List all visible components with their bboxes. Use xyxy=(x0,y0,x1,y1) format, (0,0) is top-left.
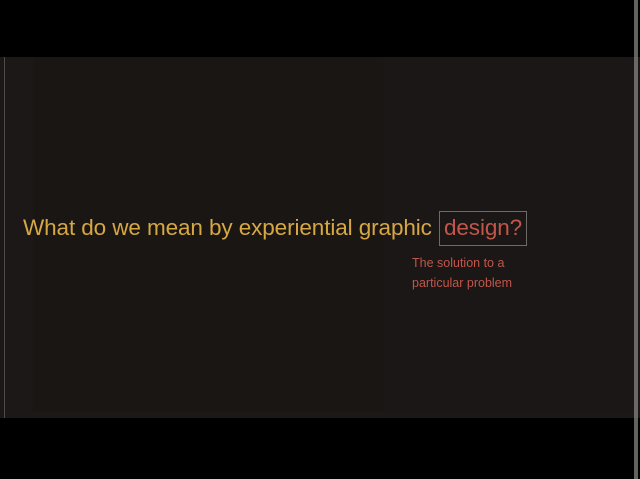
letterbox-bar-bottom xyxy=(0,418,640,479)
slide-annotation: The solution to a particular problem xyxy=(412,254,612,293)
headline-lead-text: What do we mean by experiential graphic xyxy=(23,215,438,240)
letterbox-bar-top xyxy=(0,0,640,57)
frame-edge-right xyxy=(634,0,638,479)
presentation-slide: What do we mean by experiential graphic … xyxy=(0,0,640,479)
frame-edge-left xyxy=(4,57,5,418)
annotation-line-1: The solution to a xyxy=(412,254,612,274)
annotation-line-2: particular problem xyxy=(412,274,612,294)
headline-highlight-design: design? xyxy=(439,211,527,246)
slide-headline: What do we mean by experiential graphic … xyxy=(23,211,527,246)
